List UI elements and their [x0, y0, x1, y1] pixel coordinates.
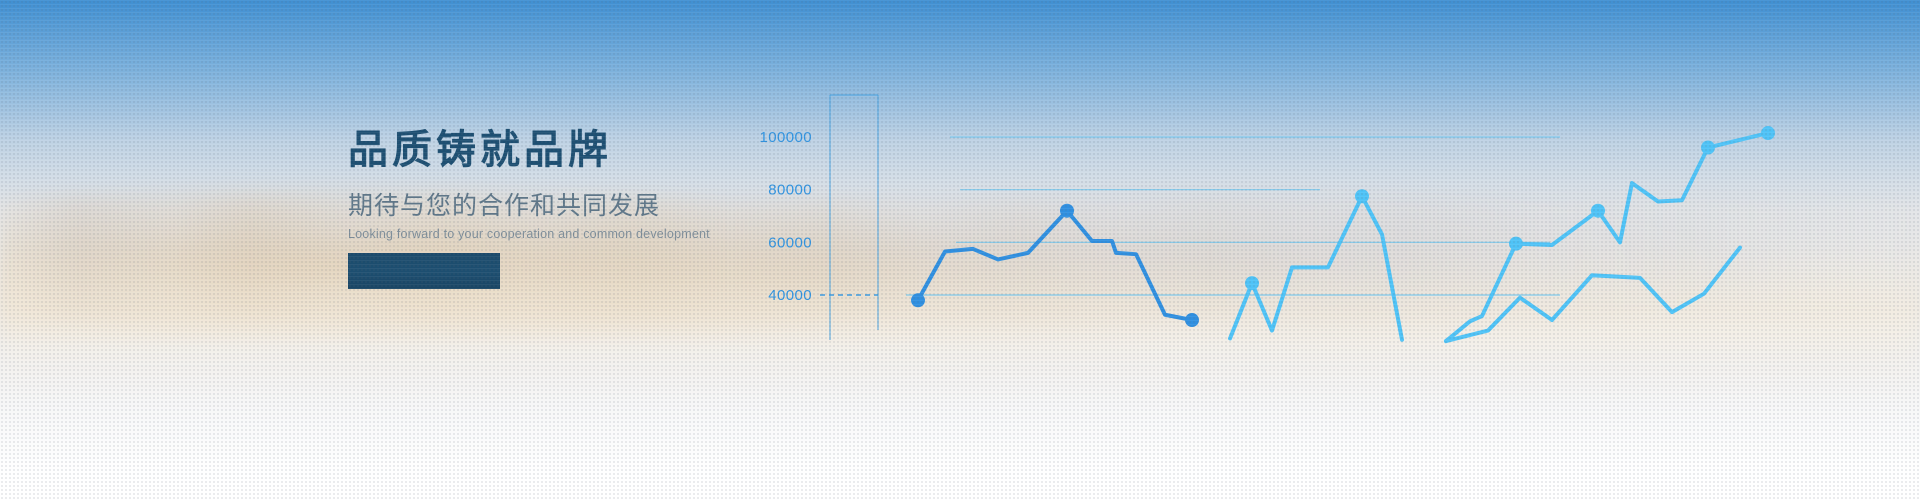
- page-subtitle-cn: 期待与您的合作和共同发展: [348, 194, 768, 219]
- series-layer: [911, 126, 1775, 341]
- data-point-marker[interactable]: [1509, 237, 1523, 251]
- hero-copy: 品质铸就品牌 期待与您的合作和共同发展 Looking forward to y…: [348, 130, 768, 241]
- y-axis-tick-label: 60000: [768, 234, 812, 251]
- data-point-marker[interactable]: [1245, 276, 1259, 290]
- data-point-marker[interactable]: [1185, 313, 1199, 327]
- page-subtitle-en: Looking forward to your cooperation and …: [348, 228, 768, 241]
- data-point-marker[interactable]: [1701, 141, 1715, 155]
- series-line: [918, 211, 1192, 320]
- data-point-marker[interactable]: [1591, 204, 1605, 218]
- hero-banner: 100000800006000040000 品质铸就品牌 期待与您的合作和共同发…: [0, 0, 1920, 500]
- data-point-marker[interactable]: [1355, 189, 1369, 203]
- data-point-marker[interactable]: [1761, 126, 1775, 140]
- y-axis-tick-label: 40000: [768, 287, 812, 304]
- line-chart: 100000800006000040000: [760, 0, 1920, 500]
- data-point-marker[interactable]: [911, 293, 925, 307]
- page-title: 品质铸就品牌: [348, 130, 768, 170]
- chart-svg: 100000800006000040000: [760, 0, 1920, 500]
- y-axis-tick-label: 80000: [768, 182, 812, 199]
- gridlines: [906, 137, 1560, 295]
- axis-frame: [830, 95, 878, 340]
- series-line: [1230, 196, 1402, 340]
- cta-button[interactable]: [348, 253, 500, 289]
- series-line: [1446, 133, 1768, 341]
- data-point-marker[interactable]: [1060, 204, 1074, 218]
